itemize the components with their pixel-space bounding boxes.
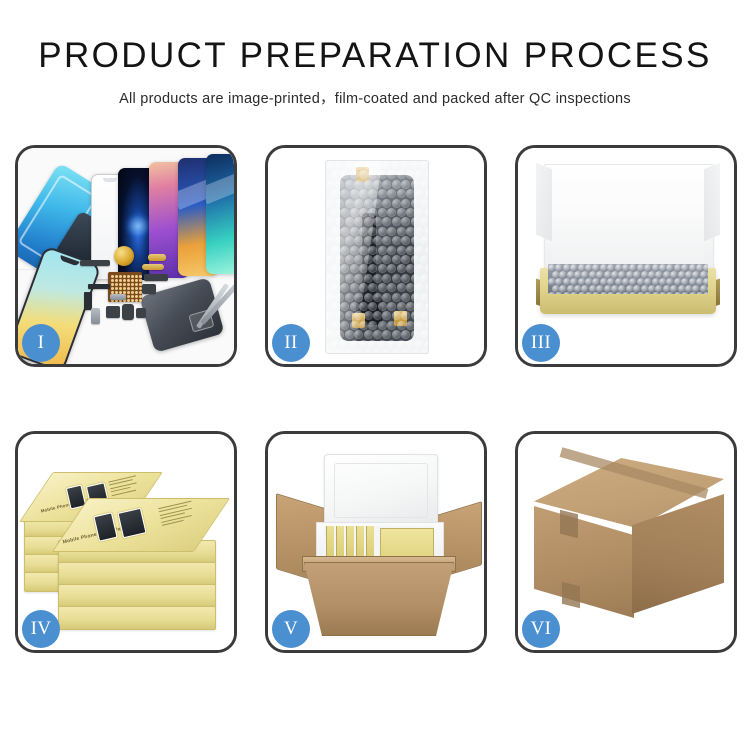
process-step-grid: I II III [15,145,737,675]
process-step-panel-2[interactable]: II [265,145,487,367]
part-camera-icon [106,306,120,318]
process-step-panel-5[interactable]: V [265,431,487,653]
step-badge-1: I [22,324,60,362]
part-gold-flex-icon [148,254,166,261]
poly-bag-icon [325,160,429,354]
part-module-icon [144,274,168,281]
stacked-box-f3 [58,584,216,608]
step-badge-5: V [272,610,310,648]
step-badge-4: IV [22,610,60,648]
display-panel-teal-icon [206,154,234,274]
speaker-coil-icon [114,246,134,266]
step-badge-2: II [272,324,310,362]
part-button-icon [122,304,134,320]
step-badge-3: III [522,324,560,362]
foam-sheet-icon [552,194,704,270]
foam-lid-open-icon [324,454,438,528]
step-badge-6: VI [522,610,560,648]
part-module-2-icon [142,284,156,294]
part-flex-cable-icon [88,284,110,289]
process-step-panel-6[interactable]: VI [515,431,737,653]
carton-tape-lower-icon [562,582,580,608]
stacked-box-f4 [58,606,216,630]
part-bracket-icon [110,294,126,300]
process-step-panel-1[interactable]: I [15,145,237,367]
page-title: PRODUCT PREPARATION PROCESS [0,0,750,75]
page-subtitle: All products are image-printed，film-coat… [0,75,750,108]
process-step-panel-4[interactable]: Mobile Phone Spare Parts Mobile Phone Sp… [15,431,237,653]
carton-tape-upper-icon [560,510,578,538]
part-gold-flex-2-icon [142,264,164,270]
packed-bubble-parts-icon [548,264,708,294]
process-step-panel-3[interactable]: III [515,145,737,367]
part-sensor-icon [136,308,146,318]
part-sim-tray-icon [91,308,100,324]
lid-flap-right-icon [704,163,720,241]
stacked-box-f2 [58,562,216,586]
page-header: PRODUCT PREPARATION PROCESS All products… [0,0,750,108]
lid-flap-left-icon [536,163,552,241]
carton-body-icon [304,562,454,636]
part-flex-cable-2-icon [84,292,92,310]
part-connector-icon [80,260,110,266]
